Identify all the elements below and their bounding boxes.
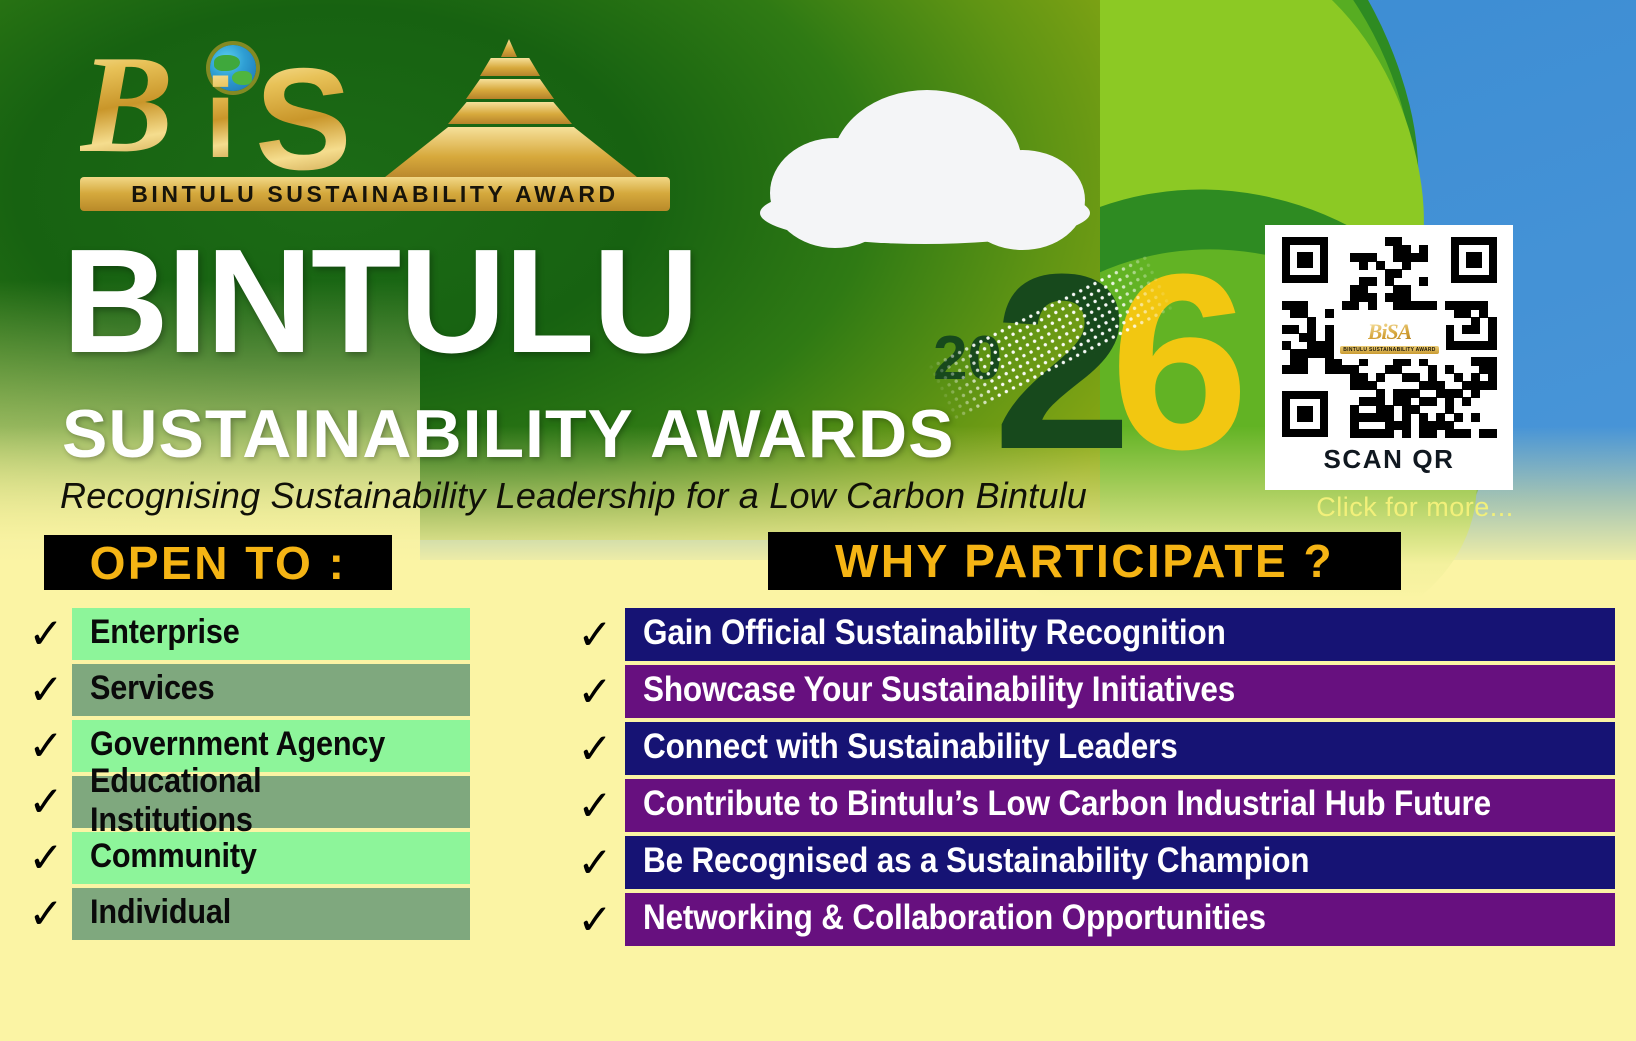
cloud-icon (760, 90, 1090, 220)
list-item[interactable]: ✓ Networking & Collaboration Opportuniti… (565, 893, 1615, 946)
list-item-label: Gain Official Sustainability Recognition (643, 613, 1226, 653)
why-participate-list: ✓ Gain Official Sustainability Recogniti… (565, 608, 1615, 946)
check-icon: ✓ (20, 832, 72, 884)
list-item[interactable]: ✓ Educational Institutions (20, 776, 470, 828)
check-icon: ✓ (20, 608, 72, 660)
year-2026: 2 6 20 (915, 245, 1215, 480)
list-item-label: Showcase Your Sustainability Initiatives (643, 670, 1235, 710)
list-item[interactable]: ✓ Connect with Sustainability Leaders (565, 722, 1615, 775)
list-item[interactable]: ✓ Community (20, 832, 470, 884)
bisa-logo: B i S BINTULU SUSTAINABILITY AWARD (70, 25, 670, 215)
logo-banner-label: BINTULU SUSTAINABILITY AWARD (131, 181, 619, 208)
logo-letter-s: S (255, 47, 352, 192)
list-item-label: Community (90, 837, 257, 876)
bisa-logo-mark: B i S (70, 25, 670, 175)
check-icon: ✓ (565, 608, 625, 661)
list-item[interactable]: ✓ Contribute to Bintulu’s Low Carbon Ind… (565, 779, 1615, 832)
list-item-label: Individual (90, 893, 231, 932)
check-icon: ✓ (20, 664, 72, 716)
open-to-header: OPEN TO : (44, 535, 392, 590)
logo-letter-i: i (205, 63, 236, 175)
list-item-label: Connect with Sustainability Leaders (643, 727, 1178, 767)
list-item[interactable]: ✓ Services (20, 664, 470, 716)
tagline: Recognising Sustainability Leadership fo… (60, 475, 1087, 517)
list-item-label: Educational Institutions (90, 762, 432, 840)
check-icon: ✓ (565, 836, 625, 889)
check-icon: ✓ (565, 665, 625, 718)
poster-root: B i S BINTULU SUSTAINABILITY AWARD BINTU… (0, 0, 1636, 1041)
list-item[interactable]: ✓ Individual (20, 888, 470, 940)
why-participate-header-label: WHY PARTICIPATE ? (835, 534, 1334, 588)
list-item-label: Government Agency (90, 725, 385, 764)
qr-label: SCAN QR (1323, 444, 1454, 475)
qr-card[interactable]: BiSA BINTULU SUSTAINABILITY AWARD SCAN Q… (1265, 225, 1513, 490)
check-icon: ✓ (565, 779, 625, 832)
list-item[interactable]: ✓ Be Recognised as a Sustainability Cham… (565, 836, 1615, 889)
logo-banner: BINTULU SUSTAINABILITY AWARD (80, 177, 670, 211)
check-icon: ✓ (20, 888, 72, 940)
check-icon: ✓ (565, 722, 625, 775)
logo-letter-b: B (80, 35, 173, 175)
page-subtitle: SUSTAINABILITY AWARDS (62, 400, 954, 468)
qr-click-hint[interactable]: Click for more... (1300, 492, 1530, 523)
list-item-label: Enterprise (90, 613, 240, 652)
open-to-header-label: OPEN TO : (90, 536, 347, 590)
list-item-label: Networking & Collaboration Opportunities (643, 898, 1266, 938)
check-icon: ✓ (565, 893, 625, 946)
list-item-label: Services (90, 669, 214, 708)
why-participate-header: WHY PARTICIPATE ? (768, 532, 1401, 590)
qr-code-icon[interactable]: BiSA BINTULU SUSTAINABILITY AWARD (1282, 237, 1497, 437)
page-title: BINTULU (62, 228, 697, 376)
list-item[interactable]: ✓ Showcase Your Sustainability Initiativ… (565, 665, 1615, 718)
check-icon: ✓ (20, 776, 72, 828)
qr-logo-bar: BINTULU SUSTAINABILITY AWARD (1340, 346, 1438, 354)
list-item-label: Be Recognised as a Sustainability Champi… (643, 841, 1309, 881)
list-item[interactable]: ✓ Gain Official Sustainability Recogniti… (565, 608, 1615, 661)
tower-icon (370, 39, 650, 179)
open-to-list: ✓ Enterprise ✓ Services ✓ Government Age… (20, 608, 470, 940)
qr-logo-mark: BiSA (1368, 319, 1412, 345)
qr-embedded-logo: BiSA BINTULU SUSTAINABILITY AWARD (1334, 313, 1446, 359)
list-item-label: Contribute to Bintulu’s Low Carbon Indus… (643, 784, 1491, 824)
check-icon: ✓ (20, 720, 72, 772)
list-item[interactable]: ✓ Enterprise (20, 608, 470, 660)
